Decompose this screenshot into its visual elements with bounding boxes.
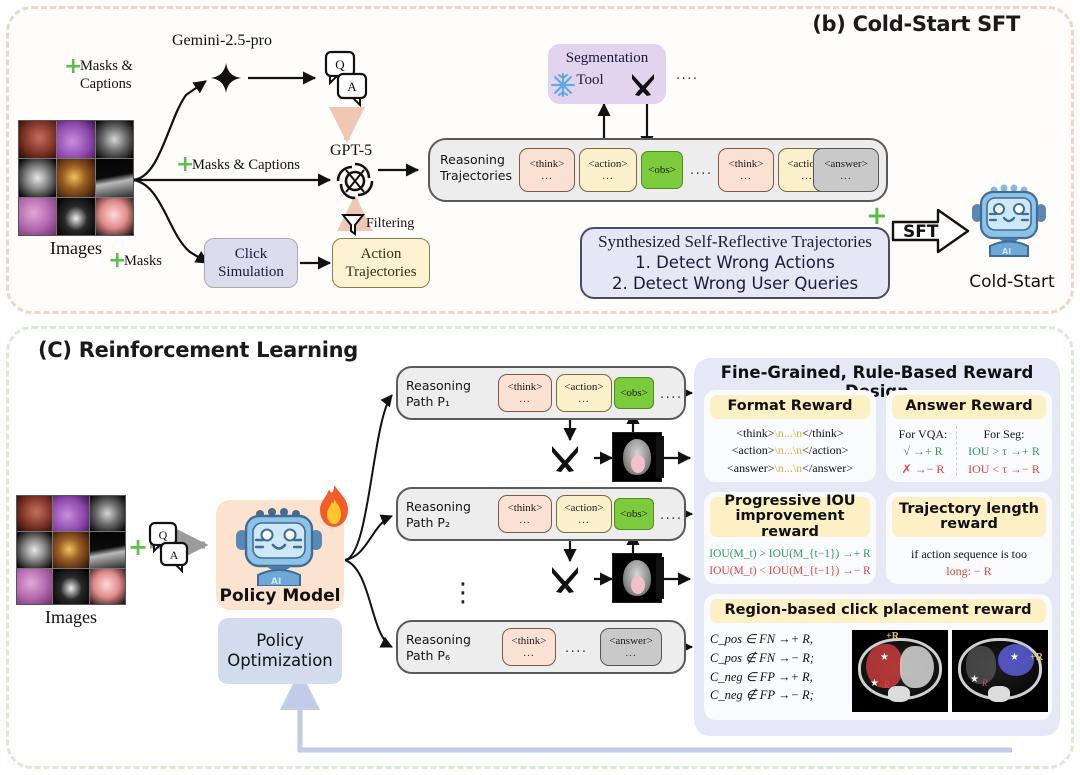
answer-reward-divider — [956, 426, 957, 476]
chip-sub: ... — [740, 171, 751, 182]
answer-reward-seg: For Seg: IOU > τ →+ R IOU < τ →− R — [960, 426, 1048, 478]
star-marker: ★ — [880, 652, 889, 663]
image-cell — [57, 198, 94, 235]
chip-action[interactable]: <action> ... — [556, 495, 612, 533]
format-line-1: <think>\n...\n</think> — [708, 425, 872, 442]
tools-icon — [628, 70, 658, 100]
chip-sub: ... — [578, 515, 589, 526]
image-cell — [96, 159, 133, 196]
click-simulation-box: Click Simulation — [204, 238, 298, 288]
chip-answer[interactable]: <answer> ... — [600, 628, 662, 666]
images-grid-sft — [18, 120, 134, 236]
image-cell — [57, 159, 94, 196]
format-reward-body: <think>\n...\n</think> <action>\n...\n</… — [708, 425, 872, 477]
svg-text:A: A — [347, 79, 357, 94]
image-cell — [19, 159, 56, 196]
progressive-iou-header: Progressive IOU improvement reward — [710, 497, 870, 537]
format-reward-header: Format Reward — [710, 395, 870, 419]
chip-sub: ... — [519, 515, 530, 526]
traj-line-1: if action sequence is too — [890, 546, 1048, 563]
policy-model-label: Policy Model — [216, 586, 344, 606]
format-line2-mid: \n...\n — [774, 443, 802, 457]
action-trajectories-line1: Action — [361, 245, 402, 263]
edge-label-masks-captions-1: Masks & — [80, 58, 133, 75]
edge-label-masks-captions-2: Masks & Captions — [192, 157, 300, 174]
chip-sub: ... — [840, 171, 851, 182]
format-line1-close: </think> — [802, 426, 844, 440]
iou-line-1: IOU(M_t) > IOU(M_{t−1}) →+ R — [708, 546, 872, 563]
star-marker: ★ — [870, 678, 879, 689]
format-line-3: <answer>\n...\n</answer> — [708, 460, 872, 477]
image-cell — [90, 569, 125, 604]
snowflake-icon — [550, 72, 576, 98]
qa-q-letter: Q — [159, 528, 168, 542]
chip-think[interactable]: <think> ... — [502, 628, 556, 666]
answer-reward-card: Answer Reward For VQA: √ →+ R ✗ →− R For… — [886, 390, 1052, 482]
images-grid-rl — [16, 495, 126, 605]
image-cell — [53, 496, 88, 531]
sparkle-icon — [208, 60, 244, 96]
chip-tag: <think> — [511, 636, 546, 647]
ct-image-negative-click: ★ ★ R +R — [952, 630, 1048, 712]
images-label-rl: Images — [16, 607, 126, 628]
format-reward-card: Format Reward <think>\n...\n</think> <ac… — [704, 390, 876, 482]
chip-think[interactable]: <think> ... — [498, 495, 552, 533]
format-line3-mid: \n...\n — [775, 461, 803, 475]
synthesized-title: Synthesized Self-Reflective Trajectories — [580, 232, 890, 252]
chip-tag: <obs> — [620, 509, 648, 520]
traj-line-2: long: − R — [890, 563, 1048, 580]
tools-icon — [548, 563, 582, 597]
ct-image-2-label: +R — [1030, 652, 1043, 663]
chip-answer[interactable]: <answer> ... — [813, 148, 879, 192]
chip-tag: <obs> — [648, 165, 676, 176]
policy-optimization-box: Policy Optimization — [218, 618, 342, 684]
reasoning-trajectories-label-line2: Trajectories — [440, 168, 512, 184]
chip-tag: <action> — [564, 382, 603, 393]
chip-obs[interactable]: <obs> — [641, 151, 683, 189]
chip-obs[interactable]: <obs> — [614, 377, 654, 409]
path-dots-1: .... — [660, 387, 683, 402]
reasoning-path-label-2-line2: Path P₂ — [406, 515, 450, 531]
qa-bubble-icon-sft: Q A — [316, 50, 378, 108]
progressive-iou-card: Progressive IOU improvement reward IOU(M… — [704, 492, 876, 584]
vqa-line-2: ✗ →− R — [890, 461, 956, 478]
synthesized-item-1: 1. Detect Wrong Actions — [580, 253, 890, 272]
image-cell — [57, 121, 94, 158]
chip-think[interactable]: <think> ... — [498, 374, 552, 412]
chip-gap-dots-b: .... — [690, 163, 713, 178]
seg-line-2: IOU < τ →− R — [960, 461, 1048, 478]
reasoning-trajectories-label-line1: Reasoning — [440, 152, 505, 168]
trajectory-length-header: Trajectory length reward — [892, 497, 1046, 537]
chip-think[interactable]: <think> ... — [519, 148, 575, 192]
chip-sub: ... — [602, 171, 613, 182]
format-line1-open: <think> — [736, 426, 774, 440]
image-cell — [96, 121, 133, 158]
image-cell — [19, 198, 56, 235]
r-marker: R — [982, 678, 988, 688]
format-line3-close: </answer> — [802, 461, 853, 475]
flame-icon — [314, 483, 354, 529]
image-cell — [53, 569, 88, 604]
region-click-formulas: C_pos ∈ FN →+ R, C_pos ∉ FN →− R; C_neg … — [710, 630, 846, 705]
panel-b-title: (b) Cold-Start SFT — [812, 12, 1020, 36]
cold-start-label: Cold-Start — [960, 272, 1064, 292]
reasoning-path-label-2-line1: Reasoning — [406, 499, 471, 515]
star-marker: ★ — [1010, 652, 1019, 663]
chip-tag: <action> — [588, 159, 627, 170]
seg-header: For Seg: — [960, 426, 1048, 443]
region-line-1: C_pos ∈ FN →+ R, — [710, 630, 846, 649]
sft-arrow-label: SFT — [903, 222, 938, 242]
image-cell — [53, 532, 88, 567]
chip-tag: <answer> — [609, 636, 653, 647]
action-trajectories-line2: Trajectories — [345, 263, 416, 281]
chip-action[interactable]: <action> ... — [579, 148, 637, 192]
chip-action[interactable]: <action> ... — [556, 374, 612, 412]
chip-tag: <think> — [728, 159, 763, 170]
vqa-line-1: √ →+ R — [890, 443, 956, 460]
mask-stack-shadow-2 — [656, 557, 664, 599]
tools-icon — [548, 442, 582, 476]
chip-tag: <think> — [507, 382, 542, 393]
answer-reward-header: Answer Reward — [892, 395, 1046, 419]
segmentation-tool-line1: Segmentation — [548, 50, 666, 67]
region-line-3: C_neg ∈ FP →+ R, — [710, 668, 846, 687]
edge-label-masks-captions-1b: Captions — [80, 76, 132, 93]
format-line-2: <action>\n...\n</action> — [708, 442, 872, 459]
chip-sub: ... — [801, 171, 812, 182]
gemini-label: Gemini-2.5-pro — [172, 32, 272, 50]
chip-tag: <answer> — [824, 159, 868, 170]
progressive-iou-body: IOU(M_t) > IOU(M_{t−1}) →+ R IOU(M_t) < … — [708, 546, 872, 579]
filtering-label: Filtering — [366, 216, 414, 232]
mask-thumbnail-2 — [612, 553, 662, 603]
traj-header-line1: Trajectory length — [899, 501, 1039, 517]
trajectory-length-body: if action sequence is too long: − R — [890, 546, 1048, 581]
chip-tag: <obs> — [620, 388, 648, 399]
cold-start-robot-icon: AI — [968, 180, 1052, 266]
mask-thumbnail-1 — [612, 432, 662, 482]
qa-bubble-icon-rl: Q A — [142, 521, 198, 573]
edge-label-masks: Masks — [124, 253, 162, 270]
vertical-ellipsis: ⋮ — [450, 578, 476, 608]
mask-stack-shadow-1 — [656, 436, 664, 478]
policy-optimization-line2: Optimization — [227, 651, 333, 670]
star-marker: ★ — [970, 674, 979, 685]
openai-logo-icon — [332, 158, 378, 204]
seg-line-1: IOU > τ →+ R — [960, 443, 1048, 460]
vqa-header: For VQA: — [890, 426, 956, 443]
ct-image-1-label: +R — [886, 631, 899, 642]
click-simulation-line2: Simulation — [218, 263, 284, 281]
synthesized-item-2: 2. Detect Wrong User Queries — [580, 274, 890, 293]
path-dots-6: .... — [565, 641, 588, 656]
image-cell — [90, 532, 125, 567]
image-cell — [19, 121, 56, 158]
trajectory-length-card: Trajectory length reward if action seque… — [886, 492, 1052, 584]
format-line1-mid: \n...\n — [774, 426, 802, 440]
panel-c-title: (C) Reinforcement Learning — [38, 338, 358, 362]
plus-icon-sft: + — [866, 203, 888, 229]
chip-think[interactable]: <think> ... — [718, 148, 774, 192]
reasoning-path-label-6-line1: Reasoning — [406, 632, 471, 648]
segmentation-tool-dots: .... — [676, 68, 699, 83]
policy-optimization-line1: Policy — [256, 631, 303, 650]
traj-header-line2: reward — [940, 516, 998, 532]
region-click-card: Region-based click placement reward C_po… — [704, 594, 1052, 720]
iou-header-line1: Progressive IOU — [724, 493, 855, 509]
image-cell — [96, 198, 133, 235]
chip-sub: ... — [625, 648, 636, 659]
filter-funnel-icon — [340, 212, 366, 236]
chip-tag: <action> — [564, 503, 603, 514]
action-trajectories-box: Action Trajectories — [332, 238, 430, 288]
reasoning-path-label-1-line1: Reasoning — [406, 378, 471, 394]
image-cell — [17, 532, 52, 567]
format-line2-open: <action> — [732, 443, 775, 457]
chip-tag: <think> — [507, 503, 542, 514]
robot-badge-rl: AI — [271, 577, 281, 586]
ct-image-positive-click: ★ ★ R +R — [852, 630, 948, 712]
region-click-header: Region-based click placement reward — [710, 599, 1046, 623]
format-line2-close: </action> — [802, 443, 848, 457]
svg-text:AI: AI — [1002, 247, 1011, 256]
region-line-2: C_pos ∉ FN →− R; — [710, 649, 846, 668]
chip-obs[interactable]: <obs> — [614, 498, 654, 530]
image-cell — [90, 496, 125, 531]
r-marker: R — [884, 680, 890, 690]
svg-text:Q: Q — [335, 57, 345, 72]
chip-sub: ... — [578, 394, 589, 405]
answer-reward-vqa: For VQA: √ →+ R ✗ →− R — [890, 426, 956, 478]
image-cell — [17, 496, 52, 531]
format-line3-open: <answer> — [727, 461, 775, 475]
chip-tag: <think> — [529, 159, 564, 170]
chip-sub: ... — [519, 394, 530, 405]
reasoning-path-label-6-line2: Path P₆ — [406, 648, 450, 664]
qa-a-letter: A — [170, 548, 179, 562]
iou-header-line2: improvement reward — [735, 508, 844, 539]
chip-sub: ... — [541, 171, 552, 182]
image-cell — [17, 569, 52, 604]
click-simulation-line1: Click — [235, 245, 268, 263]
reasoning-path-label-1-line2: Path P₁ — [406, 394, 450, 410]
iou-line-2: IOU(M_t) < IOU(M_{t−1}) →− R — [708, 563, 872, 580]
chip-sub: ... — [523, 648, 534, 659]
region-line-4: C_neg ∉ FP →− R; — [710, 686, 846, 705]
path-dots-2: .... — [660, 508, 683, 523]
